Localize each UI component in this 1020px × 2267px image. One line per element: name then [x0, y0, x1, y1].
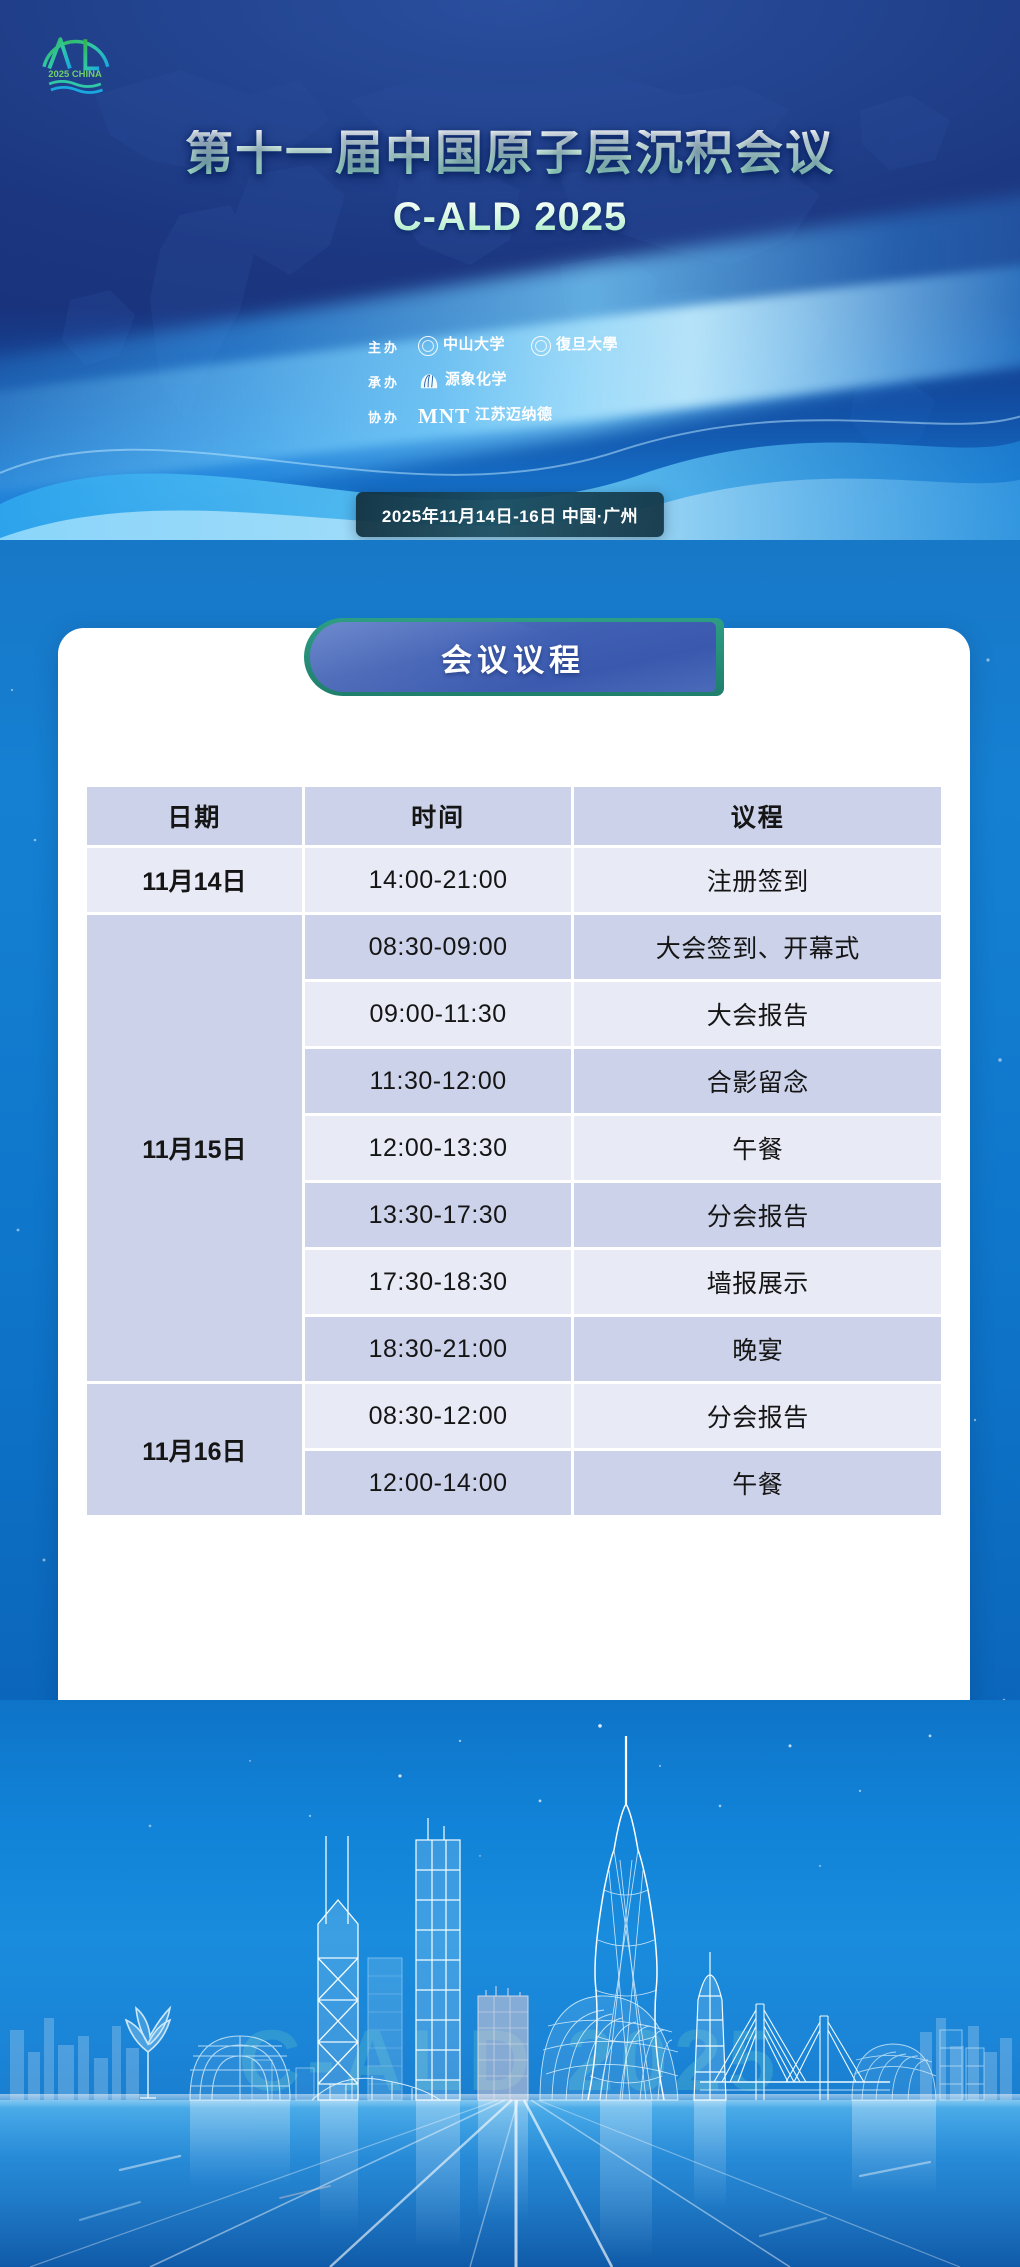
column-header-date: 日期 [87, 787, 302, 845]
agenda-item-cell: 晚宴 [574, 1317, 941, 1381]
organizer-label-undertaker: 承办 [352, 372, 400, 391]
conference-poster: 2025 CHINA 第十一届中国原子层沉积会议 C-ALD 2025 主办 中… [0, 0, 1020, 2267]
organizer-fudan-name: 復旦大學 [556, 338, 618, 354]
organizer-row-host: 主办 中山大学 復旦大學 [0, 332, 1020, 360]
agenda-item-cell: 大会报告 [574, 982, 941, 1046]
agenda-table-header-row: 日期 时间 议程 [87, 787, 941, 845]
organizer-mnt: MNT 江苏迈纳德 [418, 404, 553, 429]
agenda-item-cell: 分会报告 [574, 1384, 941, 1448]
agenda-table-row: 11月14日14:00-21:00注册签到 [87, 848, 941, 912]
agenda-item-cell: 注册签到 [574, 848, 941, 912]
organizer-mnt-suffix: 江苏迈纳德 [475, 408, 553, 424]
organizer-oriphant: 源象化学 [418, 372, 507, 390]
agenda-date-cell: 11月16日 [87, 1384, 302, 1515]
agenda-time-cell: 17:30-18:30 [305, 1250, 572, 1314]
agenda-table-row: 11月16日08:30-12:00分会报告 [87, 1384, 941, 1448]
agenda-table-row: 11月15日08:30-09:00大会签到、开幕式 [87, 915, 941, 979]
organizers-section: 主办 中山大学 復旦大學 承办 [0, 332, 1020, 437]
agenda-time-cell: 11:30-12:00 [305, 1049, 572, 1113]
agenda-time-cell: 08:30-09:00 [305, 915, 572, 979]
agenda-time-cell: 18:30-21:00 [305, 1317, 572, 1381]
agenda-badge: 会议议程 [304, 618, 724, 696]
shell-logo-icon [418, 372, 440, 390]
agenda-item-cell: 分会报告 [574, 1183, 941, 1247]
agenda-item-cell: 大会签到、开幕式 [574, 915, 941, 979]
agenda-table-body: 11月14日14:00-21:00注册签到11月15日08:30-09:00大会… [87, 848, 941, 1515]
organizer-sysu-name: 中山大学 [443, 338, 505, 354]
organizer-row-undertaker: 承办 源象化学 [0, 367, 1020, 395]
agenda-item-cell: 午餐 [574, 1451, 941, 1515]
svg-text:2025 CHINA: 2025 CHINA [48, 69, 102, 80]
organizer-oriphant-name: 源象化学 [445, 373, 507, 389]
date-location-banner: 2025年11月14日-16日 中国·广州 [356, 492, 664, 537]
agenda-item-cell: 合影留念 [574, 1049, 941, 1113]
agenda-badge-front: 会议议程 [310, 622, 716, 692]
agenda-card: 会议议程 日期 时间 议程 11月14日14:00-21:00注册签到11月15… [58, 628, 970, 1724]
agenda-time-cell: 14:00-21:00 [305, 848, 572, 912]
agenda-item-cell: 午餐 [574, 1116, 941, 1180]
agenda-time-cell: 12:00-14:00 [305, 1451, 572, 1515]
organizer-label-coorganizer: 协办 [352, 407, 400, 426]
column-header-time: 时间 [305, 787, 572, 845]
column-header-item: 议程 [574, 787, 941, 845]
agenda-table: 日期 时间 议程 11月14日14:00-21:00注册签到11月15日08:3… [84, 784, 944, 1518]
organizer-fudan: 復旦大學 [531, 336, 618, 356]
city-skyline-footer: C-ALD 2025 [0, 1700, 1020, 2267]
organizer-sysu: 中山大学 [418, 336, 505, 356]
conference-title: 第十一届中国原子层沉积会议 [0, 130, 1020, 178]
agenda-date-cell: 11月15日 [87, 915, 302, 1381]
agenda-date-cell: 11月14日 [87, 848, 302, 912]
guangzhou-skyline-icon [0, 1700, 1020, 2267]
agenda-item-cell: 墙报展示 [574, 1250, 941, 1314]
agenda-time-cell: 08:30-12:00 [305, 1384, 572, 1448]
agenda-time-cell: 12:00-13:30 [305, 1116, 572, 1180]
university-seal-icon [418, 336, 438, 356]
ald-logo-icon: 2025 CHINA [32, 22, 118, 96]
agenda-time-cell: 13:30-17:30 [305, 1183, 572, 1247]
agenda-time-cell: 09:00-11:30 [305, 982, 572, 1046]
mnt-logo-icon: MNT [418, 404, 470, 429]
university-seal-icon [531, 336, 551, 356]
organizer-row-coorganizer: 协办 MNT 江苏迈纳德 [0, 402, 1020, 430]
hero-banner: 2025 CHINA 第十一届中国原子层沉积会议 C-ALD 2025 主办 中… [0, 0, 1020, 560]
organizer-label-host: 主办 [352, 337, 400, 356]
agenda-badge-title: 会议议程 [441, 635, 585, 680]
conference-subtitle: C-ALD 2025 [0, 195, 1020, 240]
